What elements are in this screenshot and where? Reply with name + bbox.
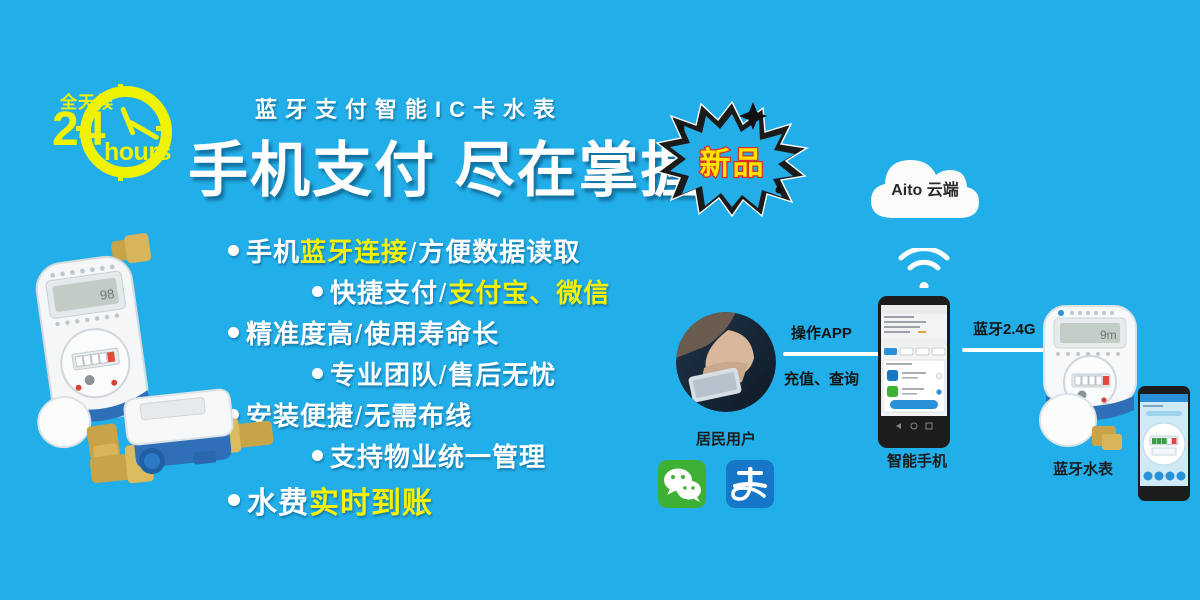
feature-text: 支持物业统一管理 bbox=[330, 437, 546, 474]
flow-label-topup: 充值、查询 bbox=[784, 368, 859, 389]
feature-text: 精准度高/使用寿命长 bbox=[246, 314, 499, 351]
resident-label: 居民用户 bbox=[676, 428, 776, 449]
smartphone-app-image bbox=[878, 296, 950, 448]
feature-text: 专业团队/售后无忧 bbox=[330, 355, 556, 392]
24-hours-badge: 全天候 24 hours bbox=[52, 82, 182, 182]
payment-icons bbox=[658, 460, 774, 508]
clock-tick-bottom bbox=[118, 168, 123, 181]
feature-item: 支持物业统一管理 bbox=[228, 437, 698, 474]
bullet-dot-icon bbox=[228, 327, 239, 338]
new-product-badge: 新品 bbox=[655, 98, 810, 218]
feature-item: 精准度高/使用寿命长 bbox=[228, 314, 698, 351]
feature-item: 手机蓝牙连接/方便数据读取 bbox=[228, 232, 698, 269]
resident-user-photo bbox=[676, 312, 776, 412]
bullet-dot-icon bbox=[228, 245, 239, 256]
feature-text: 快捷支付/支付宝、微信 bbox=[330, 273, 610, 310]
feature-list: 手机蓝牙连接/方便数据读取快捷支付/支付宝、微信精准度高/使用寿命长专业团队/售… bbox=[228, 232, 698, 526]
new-product-label: 新品 bbox=[655, 138, 810, 183]
meter-reading-app-phone-image bbox=[1138, 386, 1190, 501]
bluetooth-meter-label: 蓝牙水表 bbox=[1028, 458, 1138, 479]
alipay-icon[interactable] bbox=[726, 460, 774, 508]
bullet-dot-icon bbox=[312, 286, 323, 297]
feature-text: 手机蓝牙连接/方便数据读取 bbox=[246, 232, 580, 269]
flow-label-app: 操作APP bbox=[791, 322, 852, 343]
banner-title: 手机支付 尽在掌握 bbox=[188, 122, 703, 209]
svg-text:9m: 9m bbox=[1100, 328, 1117, 342]
feature-item: 快捷支付/支付宝、微信 bbox=[228, 273, 698, 310]
promo-banner: 全天候 24 hours 蓝牙支付智能IC卡水表 手机支付 尽在掌握 新品 手机… bbox=[0, 0, 1200, 600]
bullet-dot-icon bbox=[312, 368, 323, 379]
badge-unit: hours bbox=[104, 138, 171, 167]
clock-tick-right bbox=[156, 126, 169, 131]
bullet-dot-icon bbox=[312, 450, 323, 461]
wifi-icon bbox=[898, 248, 950, 288]
wechat-pay-icon[interactable] bbox=[658, 460, 706, 508]
smartphone-label: 智能手机 bbox=[862, 450, 972, 471]
badge-number: 24 bbox=[52, 106, 105, 154]
feature-text: 安装便捷/无需布线 bbox=[246, 396, 472, 433]
clock-tick-top bbox=[118, 84, 123, 97]
banner-subtitle: 蓝牙支付智能IC卡水表 bbox=[255, 92, 563, 124]
feature-item: 安装便捷/无需布线 bbox=[228, 396, 698, 433]
feature-item: 专业团队/售后无忧 bbox=[228, 355, 698, 392]
connector-line-left bbox=[783, 352, 879, 356]
svg-text:98: 98 bbox=[99, 286, 115, 303]
water-meter-horizontal-image bbox=[82, 369, 279, 513]
feature-item: 水费实时到账 bbox=[228, 478, 698, 522]
cloud-label: Aito 云端 bbox=[860, 176, 990, 200]
